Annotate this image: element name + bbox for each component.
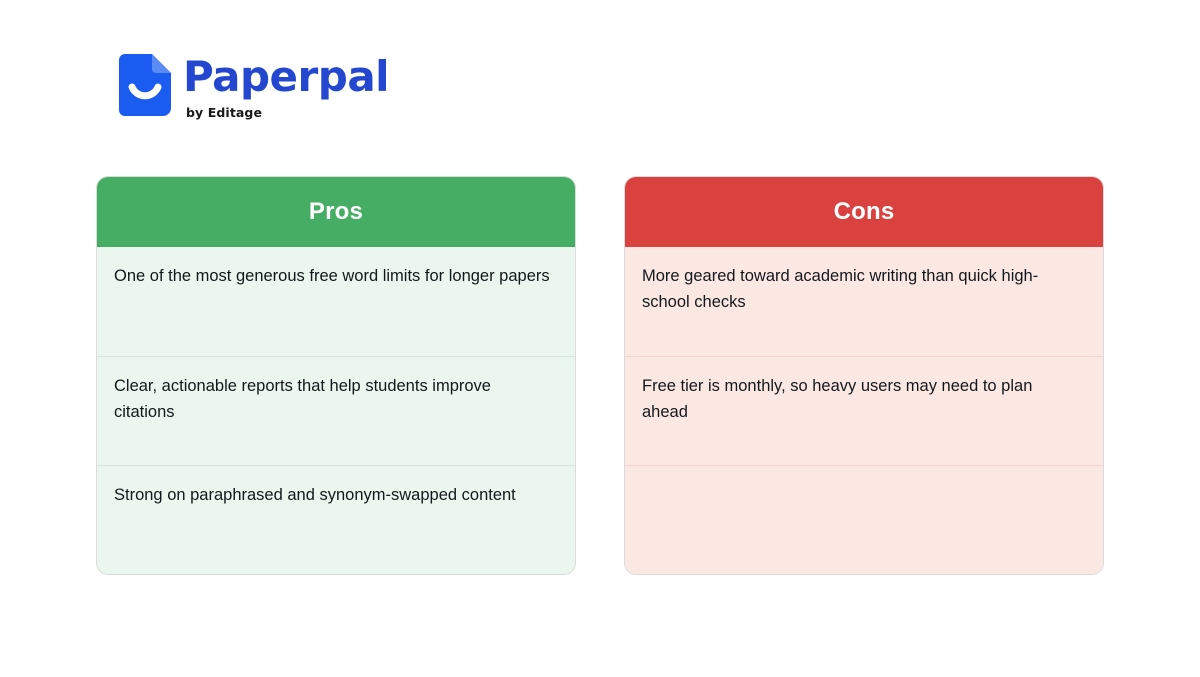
pros-header: Pros xyxy=(97,177,575,247)
brand-wordmark: Paperpal xyxy=(183,56,389,98)
pros-body: One of the most generous free word limit… xyxy=(97,247,575,574)
table-row: Clear, actionable reports that help stud… xyxy=(97,356,575,465)
brand-byline: by Editage xyxy=(186,105,262,120)
pros-cons-infographic: Paperpal by Editage Pros One of the most… xyxy=(0,0,1200,677)
table-row: Free tier is monthly, so heavy users may… xyxy=(625,356,1103,465)
table-row: One of the most generous free word limit… xyxy=(97,247,575,356)
table-row xyxy=(625,465,1103,574)
pros-card: Pros One of the most generous free word … xyxy=(96,176,576,575)
cons-card: Cons More geared toward academic writing… xyxy=(624,176,1104,575)
cons-header: Cons xyxy=(625,177,1103,247)
paperpal-logo: Paperpal by Editage xyxy=(119,52,389,120)
brand-text: Paperpal by Editage xyxy=(183,52,389,120)
document-smile-icon xyxy=(119,54,171,116)
comparison-table: Pros One of the most generous free word … xyxy=(96,176,1104,575)
table-row: More geared toward academic writing than… xyxy=(625,247,1103,356)
table-row: Strong on paraphrased and synonym-swappe… xyxy=(97,465,575,574)
cons-body: More geared toward academic writing than… xyxy=(625,247,1103,574)
